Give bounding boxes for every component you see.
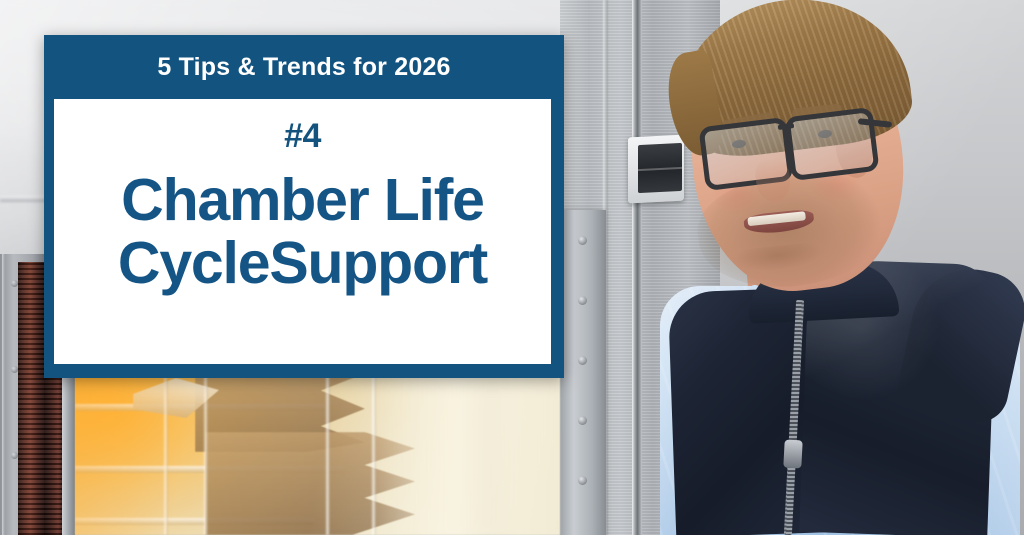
title-card-header: 5 Tips & Trends for 2026 [44, 35, 564, 99]
tip-number: #4 [284, 119, 321, 153]
hinge-screw-icon [578, 476, 587, 485]
jamb-screw-icon [11, 452, 18, 459]
hinge-screw-icon [578, 236, 587, 245]
title-card-body: #4 Chamber Life CycleSupport [54, 99, 551, 364]
vest-zipper-pull [783, 440, 802, 469]
jamb-screw-icon [11, 366, 18, 373]
door-hinge-plate [560, 210, 606, 535]
door-gasket-outer [18, 262, 44, 535]
title-card: 5 Tips & Trends for 2026 #4 Chamber Life… [44, 35, 564, 378]
tip-title-line-2: CycleSupport [118, 232, 487, 295]
tip-title-line-1: Chamber Life [118, 169, 487, 232]
jamb-screw-icon [11, 280, 18, 287]
series-label: 5 Tips & Trends for 2026 [157, 53, 450, 82]
tip-title: Chamber Life CycleSupport [118, 169, 487, 294]
technician-figure [640, 0, 1024, 535]
hinge-screw-icon [578, 356, 587, 365]
hinge-screw-icon [578, 296, 587, 305]
hinge-screw-icon [578, 416, 587, 425]
screenshot-canvas: 5 Tips & Trends for 2026 #4 Chamber Life… [0, 0, 1024, 535]
